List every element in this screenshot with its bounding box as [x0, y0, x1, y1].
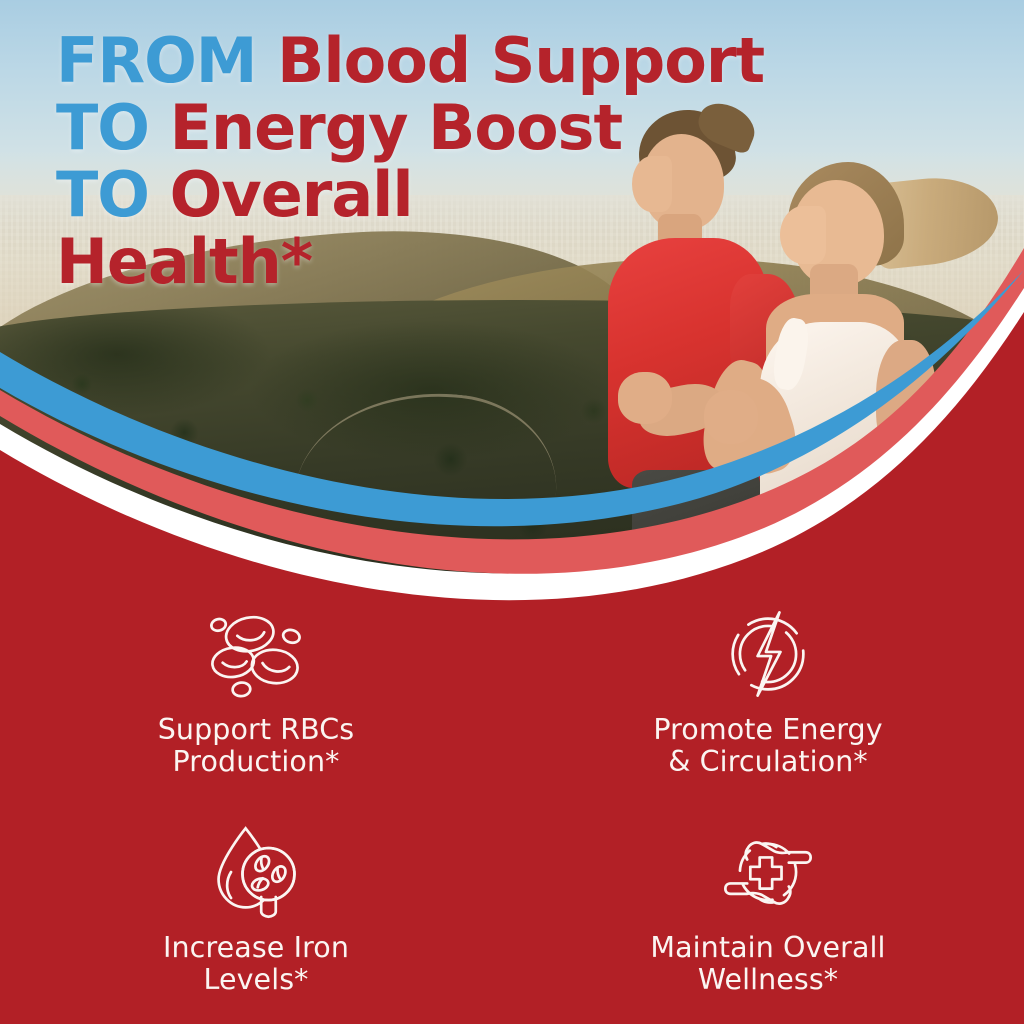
- headline-line-2: TO Energy Boost: [56, 95, 796, 162]
- benefit-label-wellness: Maintain Overall Wellness*: [650, 932, 885, 997]
- benefit-label-iron: Increase Iron Levels*: [163, 932, 349, 997]
- headline-line-3: TO Overall: [56, 162, 796, 229]
- lightning-bolt-circle-icon: [716, 602, 820, 706]
- headline-overall: Overall: [170, 158, 413, 231]
- benefit-item-wellness: Maintain Overall Wellness*: [512, 806, 1024, 1024]
- benefit-label-rbc: Support RBCs Production*: [158, 714, 355, 779]
- benefit-item-energy: Promote Energy & Circulation*: [512, 588, 1024, 806]
- headline-from: FROM: [56, 24, 257, 97]
- curved-divider: [0, 240, 1024, 640]
- infographic-canvas: FROM Blood Support TO Energy Boost TO Ov…: [0, 0, 1024, 1024]
- benefit-label-energy: Promote Energy & Circulation*: [653, 714, 882, 779]
- headline-blood-support: Blood Support: [277, 24, 764, 97]
- benefit-item-iron: Increase Iron Levels*: [0, 806, 512, 1024]
- benefit-item-rbc: Support RBCs Production*: [0, 588, 512, 806]
- headline-line-4: Health*: [56, 229, 796, 296]
- hands-cradling-cross-icon: [716, 820, 820, 924]
- headline-health: Health*: [56, 225, 312, 298]
- headline-line-1: FROM Blood Support: [56, 28, 796, 95]
- benefits-grid: Support RBCs Production* Promote Energy …: [0, 588, 1024, 1024]
- headline-energy-boost: Energy Boost: [170, 91, 623, 164]
- blood-drop-magnifier-icon: [204, 820, 308, 924]
- page-title: FROM Blood Support TO Energy Boost TO Ov…: [56, 28, 796, 296]
- headline-to-1: TO: [56, 91, 149, 164]
- headline-to-2: TO: [56, 158, 149, 231]
- red-blood-cells-icon: [204, 602, 308, 706]
